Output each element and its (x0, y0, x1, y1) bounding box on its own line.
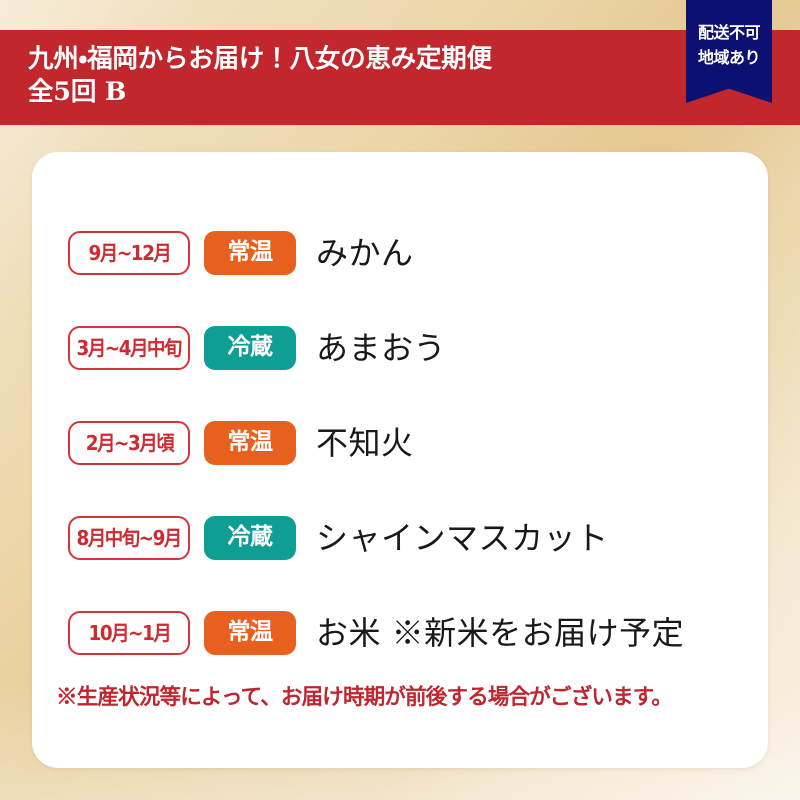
temperature-badge: 常温 (204, 421, 296, 465)
schedule-row: 8月中旬~9月冷蔵シャインマスカット (68, 490, 736, 585)
delivery-period-chip: 2月~3月頃 (68, 421, 190, 465)
delivery-period-label: 3月~4月中旬 (77, 338, 181, 358)
temperature-badge: 常温 (204, 231, 296, 275)
schedule-footnote: ※生産状況等によって、お届け時期が前後する場合がございます。 (56, 685, 756, 711)
temperature-badge: 常温 (204, 611, 296, 655)
product-name: 不知火 (316, 425, 736, 461)
temperature-badge: 冷蔵 (204, 326, 296, 370)
product-banner: 九州・福岡からお届け！八女の恵み定期便 全5回 B 配送不可 地域あり 9月~1… (0, 0, 800, 800)
temperature-badge-label: 冷蔵 (228, 526, 273, 549)
delivery-period-label: 9月~12月 (88, 243, 170, 263)
schedule-row: 9月~12月常温みかん (68, 205, 736, 300)
delivery-period-label: 8月中旬~9月 (77, 528, 181, 548)
schedule-row: 3月~4月中旬冷蔵あまおう (68, 300, 736, 395)
temperature-badge: 冷蔵 (204, 516, 296, 560)
product-name: あまおう (316, 330, 736, 366)
product-name: お米 ※新米をお届け予定 (316, 615, 736, 651)
product-name: シャインマスカット (316, 520, 736, 556)
schedule-row: 2月~3月頃常温不知火 (68, 395, 736, 490)
product-name: みかん (316, 235, 736, 271)
delivery-restriction-ribbon: 配送不可 地域あり (686, 0, 772, 103)
temperature-badge-label: 常温 (228, 241, 273, 264)
page-title: 九州・福岡からお届け！八女の恵み定期便 全5回 B (28, 43, 668, 109)
temperature-badge-label: 常温 (228, 621, 273, 644)
schedule-card: 9月~12月常温みかん3月~4月中旬冷蔵あまおう2月~3月頃常温不知火8月中旬~… (32, 152, 768, 768)
delivery-period-chip: 10月~1月 (68, 611, 190, 655)
delivery-period-label: 2月~3月頃 (85, 433, 172, 453)
schedule-row: 10月~1月常温お米 ※新米をお届け予定 (68, 585, 736, 680)
temperature-badge-label: 冷蔵 (228, 336, 273, 359)
delivery-restriction-ribbon-label: 配送不可 地域あり (686, 20, 772, 70)
delivery-period-chip: 3月~4月中旬 (68, 326, 190, 370)
schedule-list: 9月~12月常温みかん3月~4月中旬冷蔵あまおう2月~3月頃常温不知火8月中旬~… (68, 205, 736, 680)
delivery-period-chip: 8月中旬~9月 (68, 516, 190, 560)
temperature-badge-label: 常温 (228, 431, 273, 454)
delivery-period-label: 10月~1月 (88, 623, 170, 643)
delivery-period-chip: 9月~12月 (68, 231, 190, 275)
